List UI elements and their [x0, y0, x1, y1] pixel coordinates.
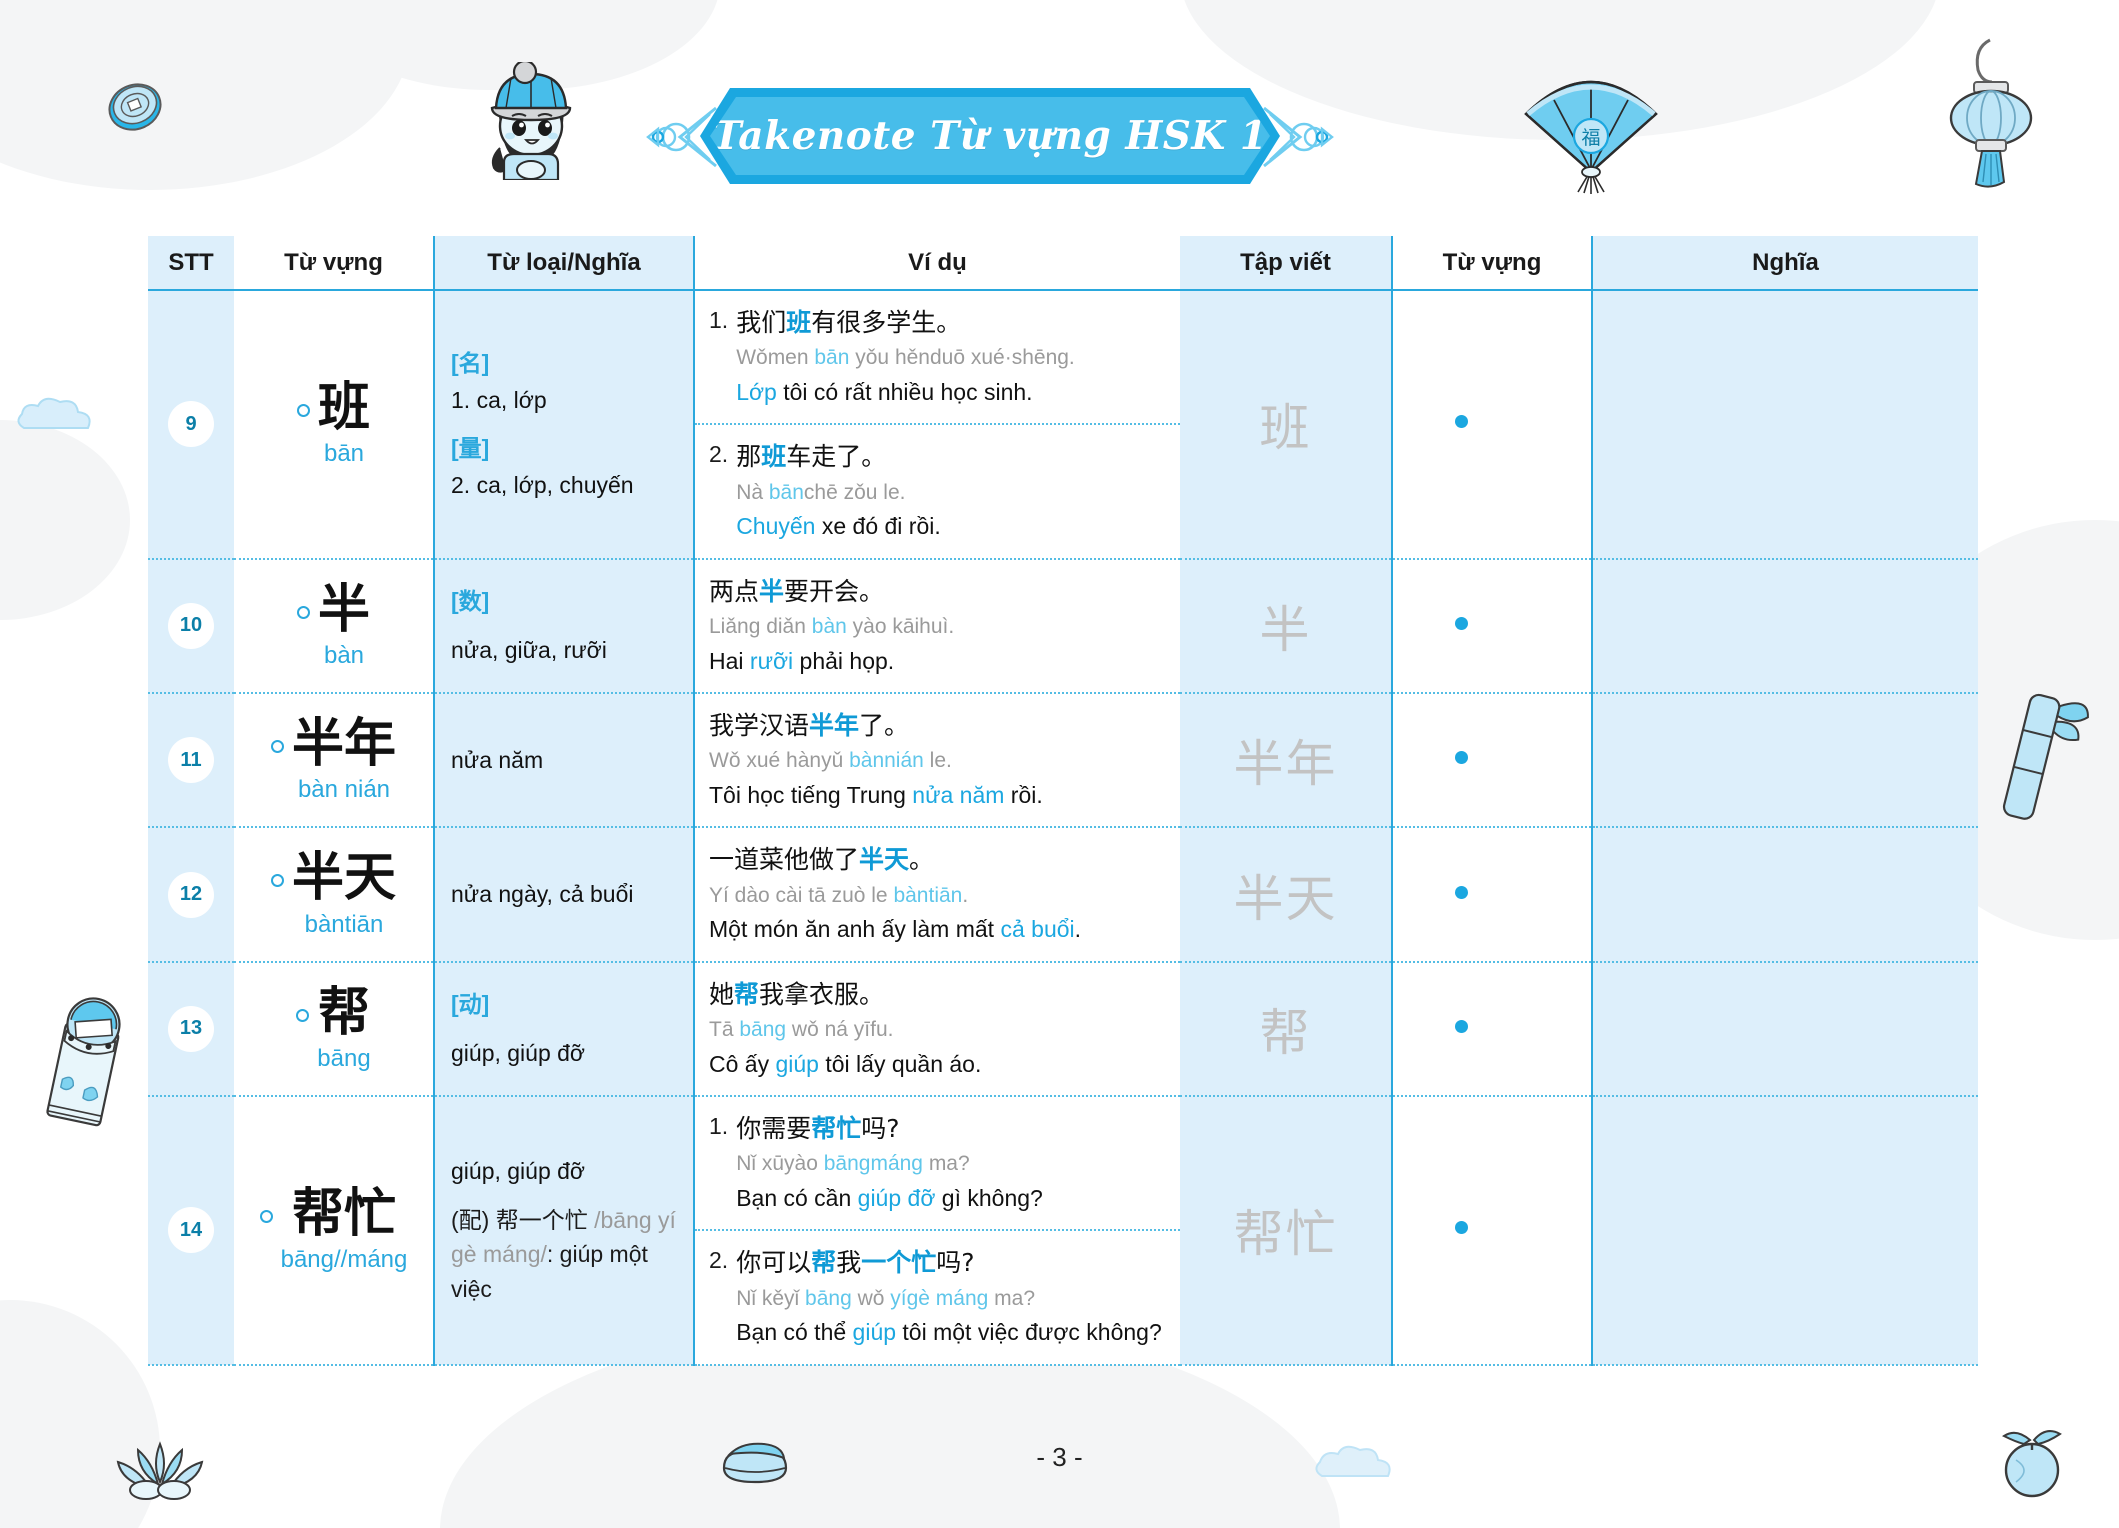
word-type-tag: [名] [451, 346, 677, 381]
hanzi-text: 班 [318, 380, 370, 436]
example-block: 1. 你需要帮忙吗? Nǐ xūyào bāngmáng ma? Bạn có … [695, 1097, 1180, 1229]
ghost-hanzi: 半年 [1234, 735, 1338, 793]
pinyin-text: bàntiān [292, 911, 396, 939]
row-index-badge: 11 [168, 737, 214, 783]
example-number: 2. [709, 1245, 728, 1349]
vocab-blank-cell[interactable] [1392, 559, 1592, 693]
pinyin-text: bān [318, 440, 370, 468]
vocabulary-cell: 半天 bàntiān [234, 827, 434, 961]
writing-practice-cell[interactable]: 帮 [1180, 962, 1392, 1096]
row-index-badge: 14 [168, 1207, 214, 1253]
meaning-blank-cell[interactable] [1592, 1096, 1978, 1365]
example-block: 两点半要开会。 Liǎng diǎn bàn yào kāihuì. Hai r… [695, 560, 1180, 692]
pinyin-text: bāng [317, 1045, 370, 1073]
meaning-line: 2. ca, lớp, chuyến [451, 468, 677, 503]
cloud-icon [12, 392, 98, 447]
ghost-hanzi: 半 [1260, 601, 1312, 659]
example-chinese: 你需要帮忙吗? [736, 1111, 1162, 1147]
meaning-cell: nửa ngày, cả buổi [434, 827, 694, 961]
example-block: 我学汉语半年了。 Wǒ xué hànyǔ bànnián le. Tôi họ… [695, 694, 1180, 826]
table-row[interactable]: 12 半天 bàntiān nửa ngày, cả buổi [148, 827, 1978, 961]
example-cell: 一道菜他做了半天。 Yí dào cài tā zuò le bàntiān. … [694, 827, 1180, 961]
example-pinyin: Nà bānchē zǒu le. [736, 476, 1162, 510]
coin-icon [104, 74, 166, 141]
example-chinese: 我们班有很多学生。 [736, 305, 1162, 341]
writing-practice-cell[interactable]: 半天 [1180, 827, 1392, 961]
vocabulary-cell: 帮 bāng [234, 962, 434, 1096]
meaning-line: nửa ngày, cả buổi [451, 877, 677, 912]
hanzi-text: 帮忙 [281, 1186, 408, 1242]
bullet-circle-icon [296, 1009, 309, 1022]
table-row[interactable]: 14 帮忙 bāng//máng giúp, giúp đỡ [148, 1096, 1978, 1365]
example-number: 2. [709, 439, 728, 543]
bullet-circle-icon [297, 606, 310, 619]
meaning-cell: nửa năm [434, 693, 694, 827]
bullet-dot-icon [1455, 415, 1468, 428]
vocabulary-cell: 半年 bàn nián [234, 693, 434, 827]
meaning-blank-cell[interactable] [1592, 693, 1978, 827]
bullet-dot-icon [1455, 886, 1468, 899]
row-index-cell: 12 [148, 827, 234, 961]
example-block: 1. 我们班有很多学生。 Wǒmen bān yǒu hěnduō xué·sh… [695, 291, 1180, 423]
word-type-tag: [数] [451, 584, 677, 619]
example-vietnamese: Chuyến xe đó đi rồi. [736, 509, 1162, 544]
example-number: 1. [709, 305, 728, 409]
example-cell: 1. 你需要帮忙吗? Nǐ xūyào bāngmáng ma? Bạn có … [694, 1096, 1180, 1365]
example-chinese: 你可以帮我一个忙吗? [736, 1245, 1162, 1281]
meaning-cell: [数] nửa, giữa, rưỡi [434, 559, 694, 693]
vocabulary-cell: 班 bān [234, 290, 434, 559]
pinyin-text: bàn nián [292, 776, 396, 804]
meaning-blank-cell[interactable] [1592, 559, 1978, 693]
header-nghia: Nghĩa [1592, 236, 1978, 290]
example-pinyin: Liǎng diǎn bàn yào kāihuì. [709, 610, 1162, 644]
example-chinese: 我学汉语半年了。 [709, 708, 1162, 744]
ghost-hanzi: 帮忙 [1234, 1205, 1338, 1263]
meaning-line: nửa, giữa, rưỡi [451, 633, 677, 668]
meaning-line: giúp, giúp đỡ [451, 1154, 677, 1189]
bullet-dot-icon [1455, 751, 1468, 764]
example-cell: 我学汉语半年了。 Wǒ xué hànyǔ bànnián le. Tôi họ… [694, 693, 1180, 827]
row-index-cell: 11 [148, 693, 234, 827]
row-index-cell: 14 [148, 1096, 234, 1365]
row-index-badge: 10 [168, 603, 214, 649]
example-chinese: 她帮我拿衣服。 [709, 977, 1162, 1013]
ornament-knot-right-icon [1256, 102, 1334, 177]
example-vietnamese: Bạn có cần giúp đỡ gì không? [736, 1181, 1162, 1216]
meaning-blank-cell[interactable] [1592, 962, 1978, 1096]
example-cell: 1. 我们班有很多学生。 Wǒmen bān yǒu hěnduō xué·sh… [694, 290, 1180, 559]
word-type-tag: [动] [451, 987, 677, 1022]
vocabulary-table: STT Từ vựng Từ loại/Nghĩa Ví dụ Tập viết… [148, 236, 1978, 1366]
meaning-line: giúp, giúp đỡ [451, 1036, 677, 1071]
vocab-blank-cell[interactable] [1392, 693, 1592, 827]
example-block: 2. 那班车走了。 Nà bānchē zǒu le. Chuyến xe đó… [695, 423, 1180, 557]
lantern-icon [1938, 30, 2048, 195]
writing-practice-cell[interactable]: 班 [1180, 290, 1392, 559]
row-index-cell: 10 [148, 559, 234, 693]
pinyin-text: bāng//máng [281, 1246, 408, 1274]
page-root: 福 [0, 0, 2119, 1528]
example-vietnamese: Tôi học tiếng Trung nửa năm rồi. [709, 778, 1162, 813]
row-index-cell: 13 [148, 962, 234, 1096]
table-row[interactable]: 9 班 bān [名] 1. ca, lớp [148, 290, 1978, 559]
example-vietnamese: Một món ăn anh ấy làm mất cả buổi. [709, 912, 1162, 947]
example-pinyin: Wǒmen bān yǒu hěnduō xué·shēng. [736, 341, 1162, 375]
row-index-cell: 9 [148, 290, 234, 559]
example-cell: 她帮我拿衣服。 Tā bāng wǒ ná yīfu. Cô ấy giúp t… [694, 962, 1180, 1096]
banner-title: Takenote Từ vựng HSK 1 [713, 113, 1268, 159]
meaning-cell: giúp, giúp đỡ (配) 帮一个忙 /bāng yí gè máng/… [434, 1096, 694, 1365]
hanzi-text: 帮 [317, 985, 370, 1041]
banner-inner: Takenote Từ vựng HSK 1 [710, 97, 1270, 175]
meaning-line: nửa năm [451, 743, 677, 778]
example-pinyin: Wǒ xué hànyǔ bànnián le. [709, 744, 1162, 778]
bullet-dot-icon [1455, 1221, 1468, 1234]
hanzi-text: 半 [318, 582, 370, 638]
example-block: 一道菜他做了半天。 Yí dào cài tā zuò le bàntiān. … [695, 828, 1180, 960]
meaning-cell: [名] 1. ca, lớp [量] 2. ca, lớp, chuyến [434, 290, 694, 559]
vocab-blank-cell[interactable] [1392, 1096, 1592, 1365]
table-row[interactable]: 11 半年 bàn nián nửa năm [148, 693, 1978, 827]
ghost-hanzi: 班 [1260, 399, 1312, 457]
girl-mascot-icon [470, 62, 592, 185]
folding-fan-icon: 福 [1518, 44, 1664, 199]
ghost-hanzi: 半天 [1234, 870, 1338, 928]
example-cell: 两点半要开会。 Liǎng diǎn bàn yào kāihuì. Hai r… [694, 559, 1180, 693]
meaning-cell: [动] giúp, giúp đỡ [434, 962, 694, 1096]
writing-practice-cell[interactable]: 半年 [1180, 693, 1392, 827]
background-blob [0, 420, 130, 620]
meaning-blank-cell[interactable] [1592, 827, 1978, 961]
bullet-circle-icon [271, 874, 284, 887]
writing-practice-cell[interactable]: 帮忙 [1180, 1096, 1392, 1365]
bullet-dot-icon [1455, 1020, 1468, 1033]
example-pinyin: Tā bāng wǒ ná yīfu. [709, 1013, 1162, 1047]
bullet-circle-icon [297, 404, 310, 417]
header-stt: STT [148, 236, 234, 290]
meaning-line: 1. ca, lớp [451, 383, 677, 418]
table-header-row: STT Từ vựng Từ loại/Nghĩa Ví dụ Tập viết… [148, 236, 1978, 290]
example-block: 她帮我拿衣服。 Tā bāng wǒ ná yīfu. Cô ấy giúp t… [695, 963, 1180, 1095]
jade-seal-icon [40, 980, 136, 1135]
table-row[interactable]: 10 半 bàn [数] nửa [148, 559, 1978, 693]
header-tu-loai-nghia: Từ loại/Nghĩa [434, 236, 694, 290]
page-number: - 3 - [0, 1442, 2119, 1473]
bamboo-icon [1982, 672, 2092, 837]
fan-character: 福 [1581, 127, 1600, 149]
vocab-blank-cell[interactable] [1392, 962, 1592, 1096]
example-vietnamese: Bạn có thể giúp tôi một việc được không? [736, 1315, 1162, 1350]
hanzi-text: 半年 [292, 716, 396, 772]
meaning-blank-cell[interactable] [1592, 290, 1978, 559]
collocation-line: (配) 帮一个忙 /bāng yí gè máng/: giúp một việ… [451, 1203, 677, 1307]
example-vietnamese: Hai rưỡi phải họp. [709, 644, 1162, 679]
bullet-circle-icon [271, 740, 284, 753]
example-vietnamese: Cô ấy giúp tôi lấy quần áo. [709, 1047, 1162, 1082]
example-block: 2. 你可以帮我一个忙吗? Nǐ kěyǐ bāng wǒ yígè máng … [695, 1229, 1180, 1363]
hanzi-text: 半天 [292, 850, 396, 906]
header-tap-viet: Tập viết [1180, 236, 1392, 290]
ornament-knot-left-icon [646, 102, 724, 177]
pinyin-text: bàn [318, 642, 370, 670]
vocab-blank-cell[interactable] [1392, 290, 1592, 559]
bullet-circle-icon [260, 1210, 273, 1223]
page-banner: Takenote Từ vựng HSK 1 [640, 88, 1340, 184]
row-index-badge: 12 [168, 872, 214, 918]
header-tu-vung-2: Từ vựng [1392, 236, 1592, 290]
writing-practice-cell[interactable]: 半 [1180, 559, 1392, 693]
header-tu-vung: Từ vựng [234, 236, 434, 290]
vocabulary-cell: 半 bàn [234, 559, 434, 693]
example-vietnamese: Lớp tôi có rất nhiều học sinh. [736, 375, 1162, 410]
bullet-dot-icon [1455, 617, 1468, 630]
row-index-badge: 9 [168, 401, 214, 447]
header-vi-du: Ví dụ [694, 236, 1180, 290]
example-pinyin: Yí dào cài tā zuò le bàntiān. [709, 879, 1162, 913]
example-pinyin: Nǐ kěyǐ bāng wǒ yígè máng ma? [736, 1282, 1162, 1316]
word-type-tag: [量] [451, 431, 677, 466]
ghost-hanzi: 帮 [1260, 1004, 1312, 1062]
example-number: 1. [709, 1111, 728, 1215]
example-pinyin: Nǐ xūyào bāngmáng ma? [736, 1147, 1162, 1181]
vocab-blank-cell[interactable] [1392, 827, 1592, 961]
table-row[interactable]: 13 帮 bāng [动] gi [148, 962, 1978, 1096]
row-index-badge: 13 [168, 1006, 214, 1052]
example-chinese: 两点半要开会。 [709, 574, 1162, 610]
vocabulary-cell: 帮忙 bāng//máng [234, 1096, 434, 1365]
example-chinese: 一道菜他做了半天。 [709, 842, 1162, 878]
example-chinese: 那班车走了。 [736, 439, 1162, 475]
